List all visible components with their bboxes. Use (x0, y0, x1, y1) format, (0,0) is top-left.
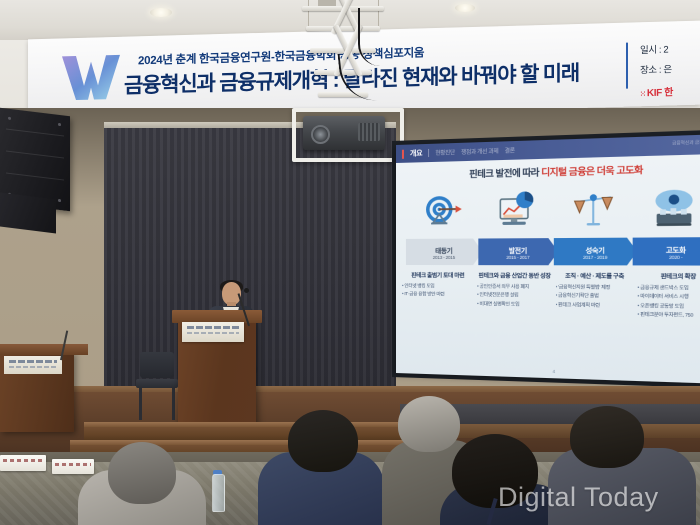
stage-chair (136, 352, 178, 420)
timeline-step-3: 고도화 2020 - (633, 237, 700, 265)
timeline-step-2: 성숙기 2017 - 2019 (554, 238, 637, 266)
slide-column-0-item-1: IT·금융 융합 방안 마련 (402, 291, 474, 300)
timeline-step-0-label: 태동기 (435, 244, 452, 254)
banner-date: 일시 : 2 (640, 42, 668, 57)
cloud-server-icon (649, 187, 698, 233)
timeline-step-0: 태동기 2013 - 2015 (406, 238, 483, 265)
w-mark-logo (60, 51, 122, 105)
ceiling-projector (303, 116, 385, 150)
slide-column-3-item-3: 핀테크분야 투자펀드, 750 (637, 311, 700, 321)
slide-column-3: 핀테크의 확장 금융규제 샌드박스 도입 마이데이터 서비스 시행 오픈뱅킹 공… (637, 272, 700, 321)
slide-column-2: 조직 · 예산 · 제도를 구축 '금융혁신지원 특별법' 제정 금융혁신기획단… (555, 272, 634, 320)
slide-column-1: 핀테크와 금융 산업간 동반 성장 공인인증서 의무 사용 폐지 인터넷전문은행… (477, 271, 552, 318)
slide-nav-item-1: 쟁점과 개선 과제 (461, 147, 498, 156)
slide-columns: 핀테크 출범기 토대 마련 인터넷 뱅킹 도입 IT·금융 융합 방안 마련 핀… (402, 271, 700, 321)
slide-column-0-header: 핀테크 출범기 토대 마련 (402, 271, 474, 279)
kif-logo-text: KIF 한 (647, 87, 673, 99)
timeline-step-1-label: 발전기 (509, 244, 527, 254)
water-bottle (212, 474, 225, 512)
slide-column-2-item-2: 핀테크 사업계획 마련 (555, 301, 634, 311)
stage-step (84, 422, 414, 440)
banner-divider (626, 43, 628, 89)
projector-vent (358, 123, 380, 141)
slide-column-3-header: 핀테크의 확장 (637, 272, 700, 281)
name-placard (52, 459, 94, 474)
side-podium-plate (4, 356, 62, 374)
timeline-step-3-label: 고도화 (666, 243, 686, 254)
side-podium-top (0, 344, 88, 355)
balance-scale-icon (570, 189, 617, 234)
audience-head (108, 442, 176, 504)
ceiling-light (455, 4, 475, 12)
nav-tick-icon (402, 149, 404, 158)
slide-nav-corner: 금융혁신과 금융규제개혁 (672, 139, 700, 147)
slide-column-1-header: 핀테크와 금융 산업간 동반 성장 (477, 271, 552, 280)
banner-place: 장소 : 은 (640, 61, 672, 76)
timeline-step-3-years: 2020 - (669, 254, 682, 259)
slide-nav-active: 개요 (410, 148, 422, 158)
slide-headline-emphasis: 디지털 금융은 더욱 고도화 (541, 165, 643, 178)
projector-lens (311, 125, 330, 144)
slide-column-2-header: 조직 · 예산 · 제도를 구축 (555, 272, 634, 281)
pa-speaker-lower (0, 193, 56, 234)
timeline-step-0-years: 2013 - 2015 (433, 254, 455, 259)
timeline-step-2-label: 성숙기 (586, 244, 605, 255)
kif-logo: ⁙KIF 한 (640, 83, 673, 99)
slide-column-1-item-2: 비대면 실명확인 도입 (477, 300, 552, 310)
microphone-head-icon (244, 288, 249, 293)
timeline-chevrons: 태동기 2013 - 2015 발전기 2015 - 2017 성숙기 2017… (406, 237, 700, 265)
slide-body: 핀테크 발전에 따라 디지털 금융은 더욱 고도화 (396, 154, 700, 384)
nav-separator (428, 149, 429, 157)
slide-nav-item-0: 현황진단 (435, 148, 454, 157)
slide-column-0: 핀테크 출범기 토대 마련 인터넷 뱅킹 도입 IT·금융 융합 방안 마련 (402, 271, 474, 317)
timeline-step-2-years: 2017 - 2019 (583, 254, 607, 259)
conference-photo: 2024년 춘계 한국금융연구원-한국금융학회 공동 정책심포지움 금융혁신과 … (0, 0, 700, 525)
ceiling-light (150, 8, 172, 17)
audience-head (288, 410, 358, 472)
audience-head (570, 406, 644, 468)
slide-headline-prefix: 핀테크 발전에 따라 (469, 167, 541, 179)
timeline-step-1-years: 2015 - 2017 (506, 254, 529, 259)
audience-head (398, 396, 460, 452)
projection-screen: 개요 현황진단 쟁점과 개선 과제 결론 금융혁신과 금융규제개혁 핀테크 발전… (396, 134, 700, 384)
name-placard (0, 455, 46, 471)
slide-nav-item-2: 결론 (505, 146, 515, 155)
watermark: Digital Today (498, 482, 659, 513)
speaker-podium-plate (182, 322, 244, 342)
target-icon (420, 192, 463, 235)
slide-headline: 핀테크 발전에 따라 디지털 금융은 더욱 고도화 (396, 160, 700, 182)
scissor-lift-mount (300, 0, 386, 118)
timeline-step-1: 발전기 2015 - 2017 (478, 238, 558, 265)
slide-icon-row (406, 185, 700, 235)
monitor-chart-icon (493, 190, 538, 234)
